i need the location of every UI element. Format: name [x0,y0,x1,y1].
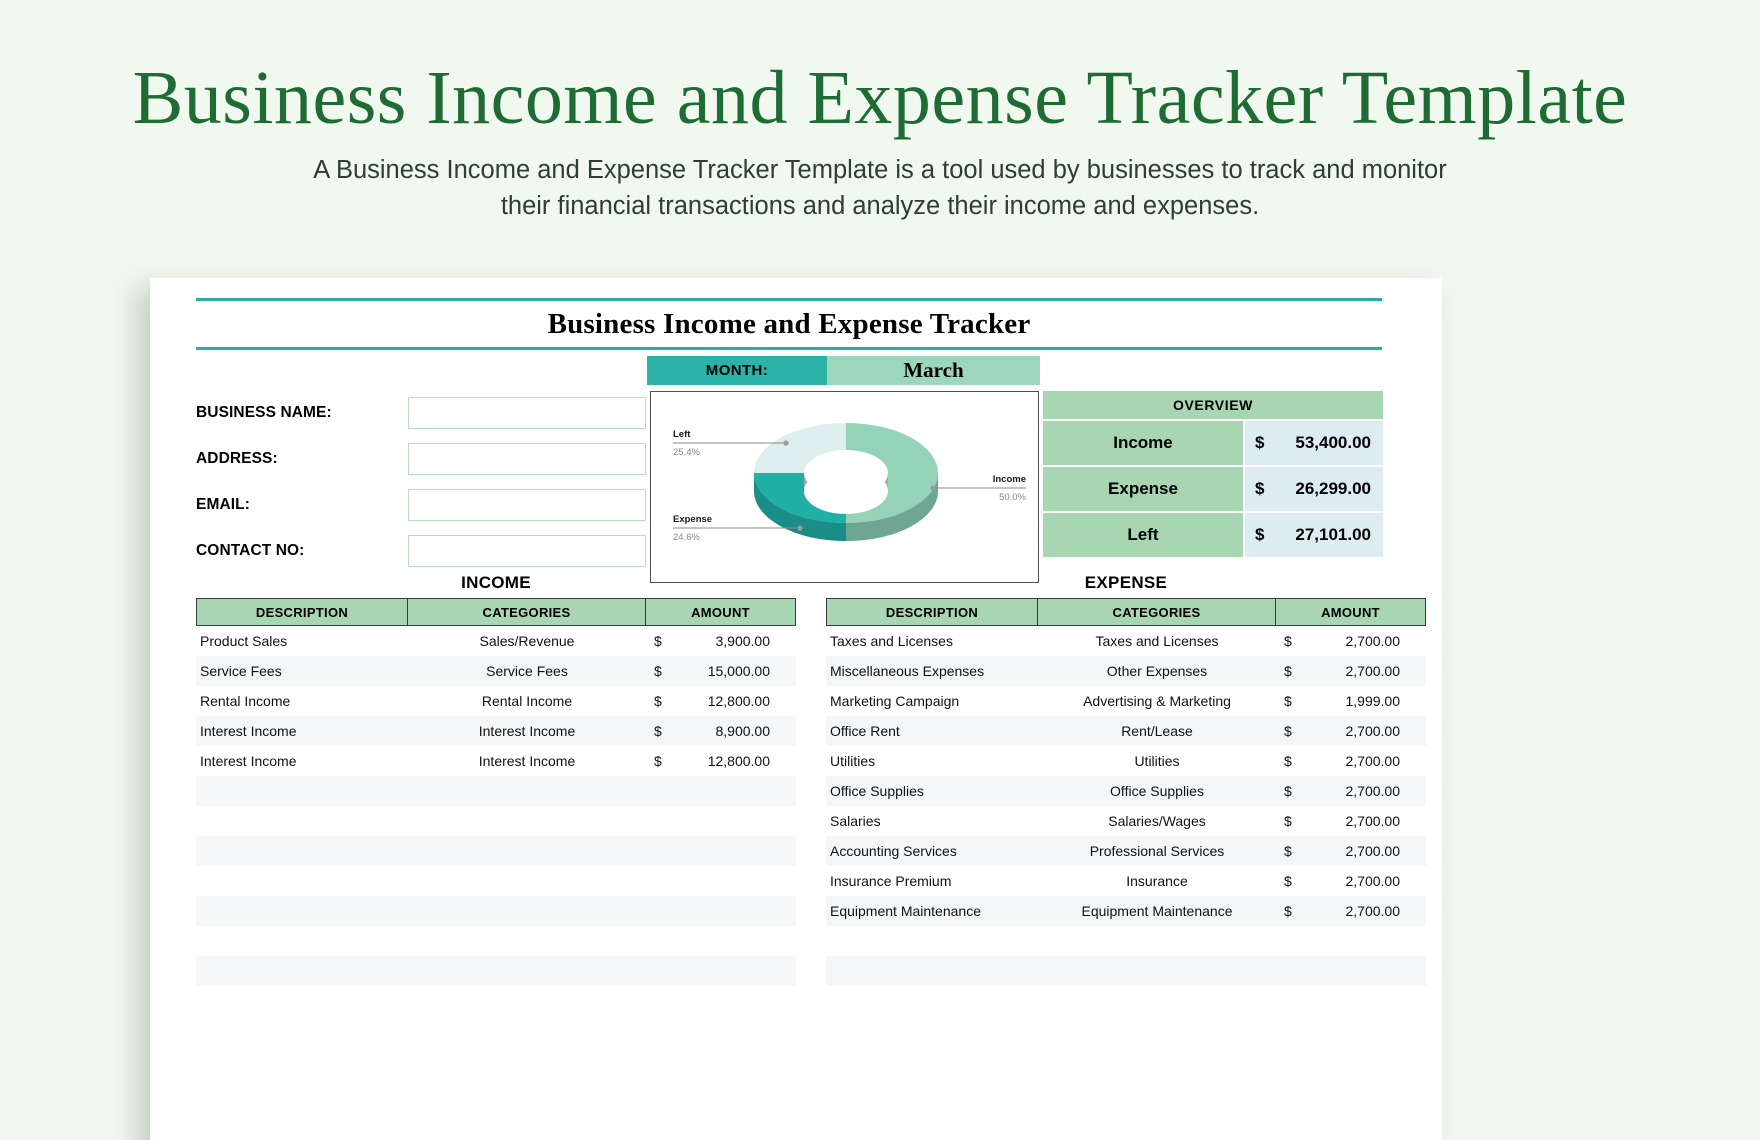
expense-amount-cell[interactable]: $2,700.00 [1276,836,1426,866]
table-row[interactable] [196,836,796,866]
expense-amount-cell[interactable]: $2,700.00 [1276,866,1426,896]
expense-description-cell[interactable]: Miscellaneous Expenses [826,656,1038,686]
table-row[interactable] [196,986,796,1016]
currency-symbol: $ [1284,693,1300,709]
table-row[interactable]: Office RentRent/Lease$2,700.00 [826,716,1426,746]
page-title: Business Income and Expense Tracker Temp… [0,52,1760,144]
table-row[interactable] [196,896,796,926]
income-table-body: Product SalesSales/Revenue$3,900.00Servi… [196,626,796,1016]
business-name-input[interactable] [408,397,646,429]
expense-amount-value: 2,700.00 [1300,903,1400,919]
expense-amount-cell[interactable]: $2,700.00 [1276,716,1426,746]
income-header-categories: CATEGORIES [408,598,646,626]
currency-symbol: $ [654,633,670,649]
expense-amount-cell[interactable]: $2,700.00 [1276,776,1426,806]
overview-label-income: Income [1043,421,1243,465]
income-description-cell[interactable]: Rental Income [196,686,408,716]
expense-amount-value: 2,700.00 [1300,813,1400,829]
table-row[interactable]: Accounting ServicesProfessional Services… [826,836,1426,866]
currency-symbol: $ [654,663,670,679]
donut-hole-bottom [804,468,888,514]
overview-amount-income: $ 53,400.00 [1243,421,1383,465]
income-description-cell[interactable]: Interest Income [196,746,408,776]
expense-category-cell[interactable]: Equipment Maintenance [1038,896,1276,926]
currency-symbol: $ [1255,479,1273,499]
expense-amount-cell[interactable] [1276,986,1426,1016]
expense-amount-cell[interactable]: $2,700.00 [1276,656,1426,686]
currency-symbol: $ [1284,843,1300,859]
income-amount-cell[interactable] [646,866,796,896]
currency-symbol: $ [654,753,670,769]
expense-amount-value: 2,700.00 [1300,633,1400,649]
expense-amount-value: 2,700.00 [1300,663,1400,679]
currency-symbol: $ [1284,753,1300,769]
expense-amount-cell[interactable]: $2,700.00 [1276,806,1426,836]
expense-amount-cell[interactable] [1276,956,1426,986]
table-row[interactable] [196,776,796,806]
income-category-cell[interactable] [408,896,646,926]
expense-amount-cell[interactable]: $2,700.00 [1276,896,1426,926]
income-amount-value: 15,000.00 [670,663,770,679]
income-description-cell[interactable] [196,806,408,836]
sheet-title: Business Income and Expense Tracker [196,301,1382,347]
overview-table: OVERVIEW Income $ 53,400.00 Expense $ 26… [1043,391,1383,559]
table-row[interactable] [196,866,796,896]
income-category-cell[interactable] [408,836,646,866]
expense-amount-value: 2,700.00 [1300,843,1400,859]
table-row[interactable]: Taxes and LicensesTaxes and Licenses$2,7… [826,626,1426,656]
expense-description-cell[interactable] [826,986,1038,1016]
page-subtitle-line-2: their financial transactions and analyze… [280,188,1480,224]
table-row[interactable]: Rental IncomeRental Income$12,800.00 [196,686,796,716]
expense-description-cell[interactable]: Marketing Campaign [826,686,1038,716]
income-description-cell[interactable] [196,986,408,1016]
contact-no-label: CONTACT NO: [196,542,408,560]
expense-description-cell[interactable] [826,956,1038,986]
currency-symbol: $ [1284,903,1300,919]
table-row[interactable] [196,926,796,956]
address-input[interactable] [408,443,646,475]
income-expense-donut-chart: Left 25.4% Expense 24.6% Income 50.0% [650,391,1039,583]
income-table: DESCRIPTION CATEGORIES AMOUNT Product Sa… [196,598,796,1016]
income-description-cell[interactable]: Service Fees [196,656,408,686]
chart-value-income: 50.0% [957,492,1026,503]
expense-category-cell[interactable] [1038,956,1276,986]
spreadsheet-card: Business Income and Expense Tracker MONT… [150,278,1442,1140]
income-amount-cell[interactable]: $8,900.00 [646,716,796,746]
table-row[interactable]: Product SalesSales/Revenue$3,900.00 [196,626,796,656]
expense-category-cell[interactable]: Other Expenses [1038,656,1276,686]
overview-amount-expense: $ 26,299.00 [1243,467,1383,511]
income-description-cell[interactable]: Interest Income [196,716,408,746]
currency-symbol: $ [654,723,670,739]
overview-row-left: Left $ 27,101.00 [1043,513,1383,559]
page-subtitle: A Business Income and Expense Tracker Te… [280,152,1480,224]
table-row[interactable] [826,956,1426,986]
income-amount-cell[interactable]: $3,900.00 [646,626,796,656]
expense-header-amount: AMOUNT [1276,598,1426,626]
expense-amount-cell[interactable] [1276,926,1426,956]
income-description-cell[interactable] [196,836,408,866]
expense-table-body: Taxes and LicensesTaxes and Licenses$2,7… [826,626,1426,1016]
expense-description-cell[interactable]: Salaries [826,806,1038,836]
overview-income-value: 53,400.00 [1273,433,1371,453]
table-row[interactable]: Interest IncomeInterest Income$8,900.00 [196,716,796,746]
income-category-cell[interactable]: Rental Income [408,686,646,716]
expense-category-cell[interactable]: Professional Services [1038,836,1276,866]
income-description-cell[interactable] [196,926,408,956]
expense-category-cell[interactable]: Advertising & Marketing [1038,686,1276,716]
income-category-cell[interactable]: Interest Income [408,716,646,746]
expense-description-cell[interactable] [826,926,1038,956]
business-name-label: BUSINESS NAME: [196,404,408,422]
income-amount-value: 12,800.00 [670,693,770,709]
table-row[interactable]: Marketing CampaignAdvertising & Marketin… [826,686,1426,716]
expense-category-cell[interactable]: Utilities [1038,746,1276,776]
currency-symbol: $ [1284,873,1300,889]
expense-category-cell[interactable]: Office Supplies [1038,776,1276,806]
income-amount-cell[interactable]: $12,800.00 [646,746,796,776]
currency-symbol: $ [1284,633,1300,649]
expense-amount-cell[interactable]: $2,700.00 [1276,746,1426,776]
income-amount-cell[interactable]: $12,800.00 [646,686,796,716]
chart-value-left: 25.4% [673,447,700,458]
expense-amount-cell[interactable]: $1,999.00 [1276,686,1426,716]
email-label: EMAIL: [196,496,408,514]
address-label: ADDRESS: [196,450,408,468]
expense-amount-value: 2,700.00 [1300,723,1400,739]
table-row[interactable] [196,806,796,836]
chart-label-income: Income [967,474,1026,485]
expense-amount-value: 1,999.00 [1300,693,1400,709]
table-row[interactable]: Miscellaneous ExpensesOther Expenses$2,7… [826,656,1426,686]
month-selector[interactable]: MONTH: March [647,356,1040,385]
income-category-cell[interactable] [408,776,646,806]
income-category-cell[interactable]: Service Fees [408,656,646,686]
income-section-title: INCOME [196,573,796,593]
income-description-cell[interactable]: Product Sales [196,626,408,656]
expense-category-cell[interactable] [1038,986,1276,1016]
expense-description-cell[interactable]: Office Supplies [826,776,1038,806]
income-category-cell[interactable] [408,806,646,836]
expense-category-cell[interactable]: Rent/Lease [1038,716,1276,746]
expense-description-cell[interactable]: Taxes and Licenses [826,626,1038,656]
expense-description-cell[interactable]: Accounting Services [826,836,1038,866]
form-row-business-name: BUSINESS NAME: [196,390,646,436]
overview-expense-value: 26,299.00 [1273,479,1371,499]
expense-description-cell[interactable]: Insurance Premium [826,866,1038,896]
table-row[interactable]: Interest IncomeInterest Income$12,800.00 [196,746,796,776]
overview-amount-left: $ 27,101.00 [1243,513,1383,557]
form-row-address: ADDRESS: [196,436,646,482]
contact-no-input[interactable] [408,535,646,567]
income-category-cell[interactable] [408,956,646,986]
income-amount-cell[interactable] [646,986,796,1016]
expense-category-cell[interactable] [1038,926,1276,956]
income-header-amount: AMOUNT [646,598,796,626]
overview-label-expense: Expense [1043,467,1243,511]
table-row[interactable] [826,926,1426,956]
income-amount-value: 8,900.00 [670,723,770,739]
business-info-form: BUSINESS NAME: ADDRESS: EMAIL: CONTACT N… [196,390,646,574]
expense-category-cell[interactable]: Salaries/Wages [1038,806,1276,836]
income-amount-cell[interactable] [646,806,796,836]
expense-description-cell[interactable]: Office Rent [826,716,1038,746]
income-amount-value: 12,800.00 [670,753,770,769]
table-row[interactable]: Equipment MaintenanceEquipment Maintenan… [826,896,1426,926]
chart-label-expense: Expense [673,514,712,525]
income-category-cell[interactable] [408,986,646,1016]
expense-amount-value: 2,700.00 [1300,753,1400,769]
income-header-description: DESCRIPTION [196,598,408,626]
income-description-cell[interactable] [196,956,408,986]
currency-symbol: $ [1284,723,1300,739]
currency-symbol: $ [1284,663,1300,679]
overview-heading: OVERVIEW [1043,391,1383,421]
expense-header-categories: CATEGORIES [1038,598,1276,626]
income-category-cell[interactable] [408,926,646,956]
currency-symbol: $ [1284,783,1300,799]
chart-value-expense: 24.6% [673,532,700,543]
expense-section-title: EXPENSE [826,573,1426,593]
email-input[interactable] [408,489,646,521]
sheet-title-block: Business Income and Expense Tracker [196,298,1382,350]
income-amount-cell[interactable] [646,956,796,986]
income-amount-cell[interactable] [646,836,796,866]
income-amount-cell[interactable] [646,926,796,956]
income-amount-value: 3,900.00 [670,633,770,649]
expense-amount-cell[interactable]: $2,700.00 [1276,626,1426,656]
table-row[interactable]: Service FeesService Fees$15,000.00 [196,656,796,686]
income-amount-cell[interactable] [646,776,796,806]
currency-symbol: $ [1255,525,1273,545]
form-row-email: EMAIL: [196,482,646,528]
overview-row-income: Income $ 53,400.00 [1043,421,1383,467]
expense-category-cell[interactable]: Taxes and Licenses [1038,626,1276,656]
income-amount-cell[interactable]: $15,000.00 [646,656,796,686]
table-row[interactable]: UtilitiesUtilities$2,700.00 [826,746,1426,776]
income-description-cell[interactable] [196,896,408,926]
currency-symbol: $ [1284,813,1300,829]
overview-label-left: Left [1043,513,1243,557]
month-value[interactable]: March [827,356,1040,385]
month-label: MONTH: [647,356,827,385]
table-row[interactable] [826,986,1426,1016]
table-row[interactable] [196,956,796,986]
chart-label-left: Left [673,429,690,440]
form-row-contact-no: CONTACT NO: [196,528,646,574]
income-category-cell[interactable]: Sales/Revenue [408,626,646,656]
expense-table: DESCRIPTION CATEGORIES AMOUNT Taxes and … [826,598,1426,1016]
income-category-cell[interactable] [408,866,646,896]
overview-row-expense: Expense $ 26,299.00 [1043,467,1383,513]
currency-symbol: $ [1255,433,1273,453]
expense-category-cell[interactable]: Insurance [1038,866,1276,896]
table-row[interactable]: Insurance PremiumInsurance$2,700.00 [826,866,1426,896]
income-description-cell[interactable] [196,776,408,806]
currency-symbol: $ [654,693,670,709]
income-table-header: DESCRIPTION CATEGORIES AMOUNT [196,598,796,626]
expense-table-header: DESCRIPTION CATEGORIES AMOUNT [826,598,1426,626]
income-amount-cell[interactable] [646,896,796,926]
expense-description-cell[interactable]: Equipment Maintenance [826,896,1038,926]
page-subtitle-line-1: A Business Income and Expense Tracker Te… [280,152,1480,188]
table-row[interactable]: Office SuppliesOffice Supplies$2,700.00 [826,776,1426,806]
overview-left-value: 27,101.00 [1273,525,1371,545]
expense-amount-value: 2,700.00 [1300,873,1400,889]
expense-description-cell[interactable]: Utilities [826,746,1038,776]
income-description-cell[interactable] [196,866,408,896]
donut-chart-svg [651,392,1039,583]
table-row[interactable]: SalariesSalaries/Wages$2,700.00 [826,806,1426,836]
expense-amount-value: 2,700.00 [1300,783,1400,799]
income-category-cell[interactable]: Interest Income [408,746,646,776]
expense-header-description: DESCRIPTION [826,598,1038,626]
